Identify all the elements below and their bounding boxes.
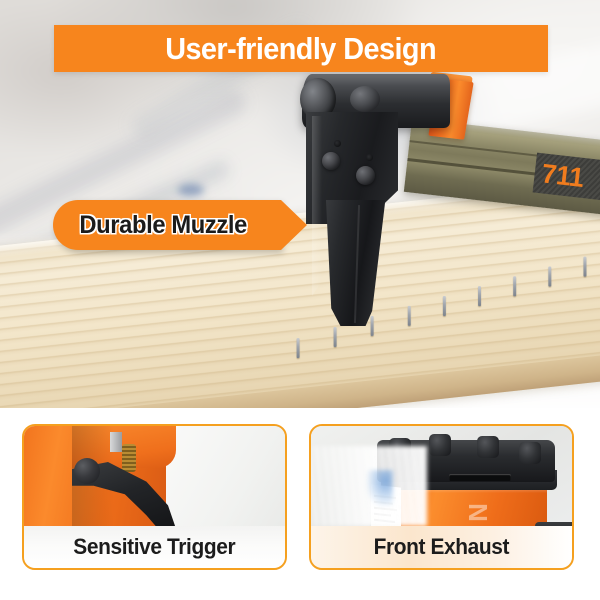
product-feature-image: 711 User-friendly Design Durable Muzzle bbox=[0, 0, 600, 600]
muzzle-bolt-hole-icon bbox=[334, 140, 341, 147]
trigger-pivot-icon bbox=[74, 458, 100, 484]
exhaust-knob-icon bbox=[477, 436, 499, 458]
header-banner: User-friendly Design bbox=[54, 25, 548, 72]
hero-section: 711 User-friendly Design Durable Muzzle bbox=[0, 0, 600, 408]
durable-muzzle-callout: Durable Muzzle bbox=[53, 200, 281, 250]
panel-sensitive-trigger: Sensitive Trigger bbox=[22, 424, 287, 570]
cylinder-bolt-icon bbox=[350, 86, 380, 112]
durable-muzzle-callout-label: Durable Muzzle bbox=[79, 213, 247, 238]
exhaust-knob-icon bbox=[429, 434, 451, 456]
exhaust-knob-icon bbox=[519, 442, 541, 464]
feature-panels: Sensitive Trigger N F bbox=[0, 408, 600, 600]
air-exhaust-blue-glow bbox=[367, 470, 393, 506]
brand-logo-letter: N bbox=[457, 496, 499, 530]
muzzle-highlight bbox=[312, 116, 322, 296]
muzzle-bolt-icon bbox=[356, 166, 375, 185]
photo-background bbox=[164, 426, 285, 530]
panel-caption-bar: Front Exhaust bbox=[311, 526, 572, 568]
muzzle-bolt-icon bbox=[322, 152, 340, 170]
panel-photo-front-exhaust: N bbox=[311, 426, 572, 530]
model-number-text: 711 bbox=[540, 160, 585, 192]
panel-caption-bar: Sensitive Trigger bbox=[24, 526, 285, 568]
trigger-spring bbox=[122, 444, 136, 472]
trigger-stem bbox=[110, 432, 122, 452]
panel-caption-front-exhaust: Front Exhaust bbox=[374, 536, 510, 558]
panel-caption-sensitive-trigger: Sensitive Trigger bbox=[74, 536, 236, 558]
exhaust-vent-slot bbox=[449, 474, 511, 481]
model-number-plate: 711 bbox=[533, 153, 600, 204]
muzzle-bolt-hole-icon bbox=[366, 154, 373, 161]
panel-front-exhaust: N Front Exhaust bbox=[309, 424, 574, 570]
header-banner-title: User-friendly Design bbox=[166, 33, 437, 64]
panel-photo-sensitive-trigger bbox=[24, 426, 285, 530]
